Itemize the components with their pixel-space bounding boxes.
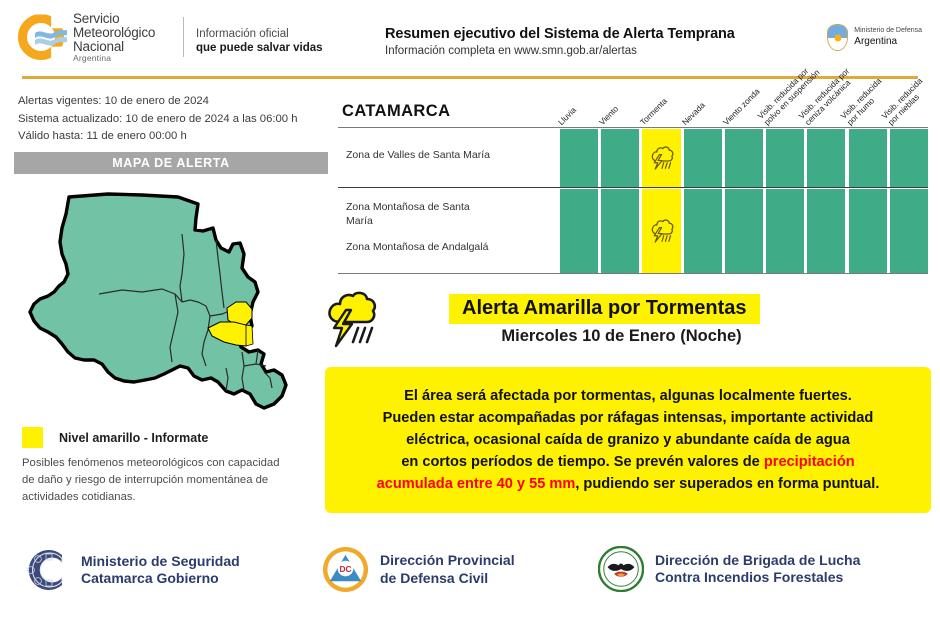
table-cell-r1-c0 [560, 189, 598, 273]
table-cell-r0-c8 [890, 129, 928, 187]
table-cell-r0-c1 [601, 129, 639, 187]
header-title-block: Resumen ejecutivo del Sistema de Alerta … [385, 26, 735, 57]
table-cell-r0-c7 [849, 129, 887, 187]
province-name: CATAMARCA [342, 102, 450, 121]
cell-thunderstorm-icon [649, 146, 675, 170]
alert-map [12, 182, 332, 427]
table-cell-r1-c1 [601, 189, 639, 273]
column-header-0: Lluvia [557, 105, 579, 127]
svg-text:DC: DC [339, 564, 351, 574]
smn-waves-icon [34, 27, 68, 47]
header-divider [183, 17, 184, 57]
argentina-shield-icon [827, 24, 848, 51]
smn-logo-mark [18, 14, 64, 60]
table-cell-r0-c4 [725, 129, 763, 187]
catamarca-shield-logo [22, 546, 70, 594]
footer-item-brigada-incendios: Dirección de Brigada de Lucha Contra Inc… [598, 546, 860, 592]
table-cell-r0-c3 [684, 129, 722, 187]
alert-table: CATAMARCA LluviaVientoTormentaNevadaVien… [338, 88, 928, 273]
description-line-3: eléctrica, ocasional caída de granizo y … [406, 429, 850, 451]
validity-info: Alertas vigentes: 10 de enero de 2024 Si… [18, 93, 297, 146]
map-legend: Nivel amarillo - Informate Posibles fenó… [22, 427, 282, 506]
smn-line-2: Meteorológico [73, 26, 155, 40]
column-header-4: Viento zonda [721, 87, 761, 127]
table-cell-r1-c4 [725, 189, 763, 273]
catamarca-map-svg [12, 182, 332, 427]
footer-item-defensa-civil: DC Dirección Provincial de Defensa Civil [322, 546, 515, 593]
valid-until: Válido hasta: 11 de enero 00:00 h [18, 128, 297, 146]
legend-yellow-swatch [22, 427, 43, 448]
footer-0-line-1: Ministerio de Seguridad [81, 553, 240, 570]
alert-subtitle: Miercoles 10 de Enero (Noche) [449, 327, 794, 346]
zone-label-r1-0: Zona Montañosa de Santa María [346, 200, 496, 228]
official-line-1: Información oficial [196, 27, 323, 41]
alert-zone-strip [246, 325, 253, 346]
province-outline [30, 194, 286, 408]
rain-streaks-icon [353, 328, 372, 342]
table-cell-r0-c6 [807, 129, 845, 187]
footer-1-line-1: Dirección Provincial [380, 552, 515, 569]
system-updated: Sistema actualizado: 10 de enero de 2024… [18, 111, 297, 129]
footer: Ministerio de Seguridad Catamarca Gobier… [0, 538, 940, 620]
page-title: Resumen ejecutivo del Sistema de Alerta … [385, 26, 735, 42]
table-row-separator [338, 187, 928, 188]
table-cell-r1-c6 [807, 189, 845, 273]
ministry-of-defense-logo: Ministerio de Defensa Argentina [827, 24, 922, 51]
table-cell-r1-c7 [849, 189, 887, 273]
footer-item-ministerio-seguridad: Ministerio de Seguridad Catamarca Gobier… [22, 546, 240, 594]
alert-infographic: Servicio Meteorológico Nacional Argentin… [0, 0, 940, 620]
official-tagline: Información oficial que puede salvar vid… [196, 27, 323, 56]
alerts-date: Alertas vigentes: 10 de enero de 2024 [18, 93, 297, 111]
cell-thunderstorm-icon [649, 219, 675, 243]
table-cell-r1-c3 [684, 189, 722, 273]
column-header-8: Visib. reducidapor nieblas [880, 76, 931, 127]
defensa-civil-logo: DC [322, 546, 369, 593]
alert-title-banner: Alerta Amarilla por Tormentas [449, 294, 760, 324]
footer-2-line-1: Dirección de Brigada de Lucha [655, 552, 860, 569]
smn-logo-text: Servicio Meteorológico Nacional Argentin… [73, 12, 155, 63]
footer-0-line-2: Catamarca Gobierno [81, 570, 240, 587]
table-cell-r1-c8 [890, 189, 928, 273]
description-line-1: El área será afectada por tormentas, alg… [404, 385, 852, 407]
footer-1-line-2: de Defensa Civil [380, 570, 515, 587]
zone-label-r0-0: Zona de Valles de Santa María [346, 148, 496, 162]
description-line-5: acumulada entre 40 y 55 mm, pudiendo ser… [377, 473, 880, 495]
brigada-incendios-logo [598, 546, 644, 592]
description-line-5-text: , pudiendo ser superados en forma puntua… [575, 476, 879, 492]
table-cell-r0-c0 [560, 129, 598, 187]
smn-line-3: Nacional [73, 40, 155, 54]
map-section-bar: MAPA DE ALERTA [14, 152, 328, 174]
smn-logo: Servicio Meteorológico Nacional Argentin… [18, 12, 155, 63]
official-line-2: que puede salvar vidas [196, 41, 323, 55]
description-line-4: en cortos períodos de tiempo. Se prevén … [401, 451, 854, 473]
description-line-4-text: en cortos períodos de tiempo. Se prevén … [401, 454, 764, 470]
legend-title: Nivel amarillo - Informate [59, 431, 208, 445]
header: Servicio Meteorológico Nacional Argentin… [0, 0, 940, 80]
smn-line-1: Servicio [73, 12, 155, 26]
header-rule [22, 76, 918, 79]
table-grid [560, 129, 928, 273]
legend-description: Posibles fenómenos meteorológicos con ca… [22, 455, 282, 506]
thunderstorm-icon [322, 290, 382, 352]
alert-description-box: El área será afectada por tormentas, alg… [325, 367, 931, 513]
table-bottom-rule [338, 273, 928, 274]
column-header-2: Tormenta [639, 96, 670, 127]
table-top-rule [338, 127, 928, 128]
smn-country: Argentina [73, 54, 155, 63]
page-subtitle: Información completa en www.smn.gob.ar/a… [385, 45, 735, 57]
table-cell-r1-c5 [766, 189, 804, 273]
zone-label-r1-1: Zona Montañosa de Andalgalá [346, 240, 496, 254]
column-header-3: Nevada [680, 101, 706, 127]
description-highlight-1: precipitación [764, 454, 855, 470]
ministry-line-2: Argentina [854, 36, 922, 48]
column-header-1: Viento [598, 104, 621, 127]
table-cell-r0-c5 [766, 129, 804, 187]
description-highlight-2: acumulada entre 40 y 55 mm [377, 476, 576, 492]
ministry-line-1: Ministerio de Defensa [854, 27, 922, 35]
footer-2-line-2: Contra Incendios Forestales [655, 569, 860, 586]
description-line-2: Pueden estar acompañadas por ráfagas int… [383, 407, 874, 429]
map-provinces [30, 194, 286, 408]
